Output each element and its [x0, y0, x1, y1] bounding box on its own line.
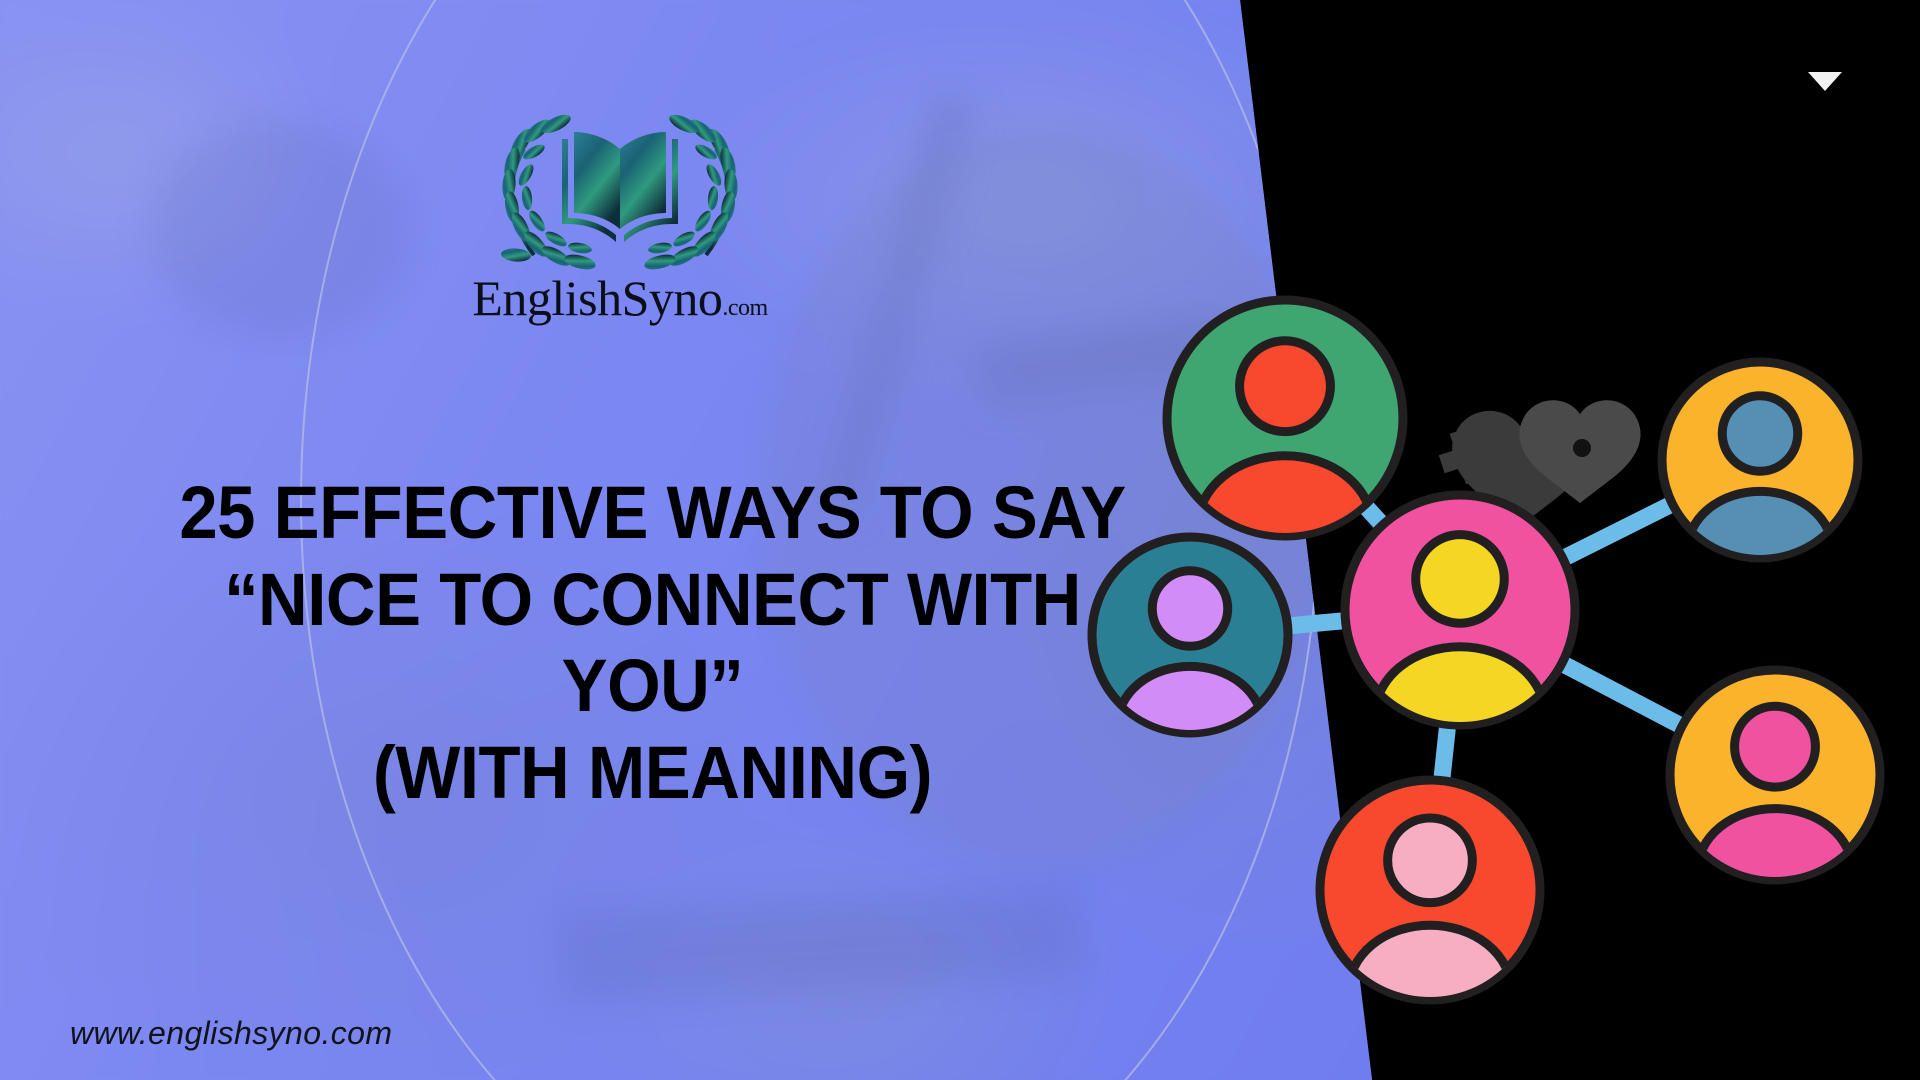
- network-diagram-svg: [1130, 330, 1920, 1080]
- footer-website-url: www.englishsyno.com: [70, 1015, 392, 1052]
- title-line-1: 25 EFFECTIVE WAYS TO SAY: [74, 470, 1232, 557]
- avatar-head: [1240, 341, 1331, 432]
- slide-canvas: EnglishSyno.com 25 EFFECTIVE WAYS TO SAY…: [0, 0, 1920, 1080]
- network-node-center[interactable]: [1345, 495, 1575, 785]
- logo-wordmark: EnglishSyno.com: [455, 273, 785, 323]
- social-network-graphic: [1130, 330, 1920, 1080]
- title-line-4: (WITH MEANING): [74, 730, 1232, 817]
- chevron-down-icon[interactable]: [1808, 72, 1842, 91]
- brand-logo: EnglishSyno.com: [455, 105, 785, 335]
- laurel-book-icon: [490, 105, 750, 275]
- avatar-head: [1416, 535, 1505, 624]
- title-line-3: YOU”: [74, 643, 1232, 730]
- title-line-2: “NICE TO CONNECT WITH: [74, 557, 1232, 644]
- avatar-body: [1687, 491, 1832, 609]
- network-node-bottom-right[interactable]: [1670, 670, 1880, 935]
- avatar-head: [1722, 396, 1797, 471]
- avatar-body: [1117, 666, 1262, 784]
- page-title: 25 EFFECTIVE WAYS TO SAY “NICE TO CONNEC…: [74, 470, 1232, 816]
- avatar-head: [1388, 818, 1473, 903]
- logo-tld-text: .com: [722, 295, 767, 321]
- avatar-body: [1349, 925, 1512, 1057]
- network-node-bottom[interactable]: [1320, 780, 1540, 1057]
- avatar-body: [1375, 647, 1545, 785]
- network-node-top-right[interactable]: [1662, 362, 1858, 609]
- avatar-head: [1735, 706, 1816, 787]
- avatar-body: [1697, 809, 1852, 935]
- avatar-head: [1152, 571, 1227, 646]
- logo-brand-text: EnglishSyno: [472, 270, 722, 326]
